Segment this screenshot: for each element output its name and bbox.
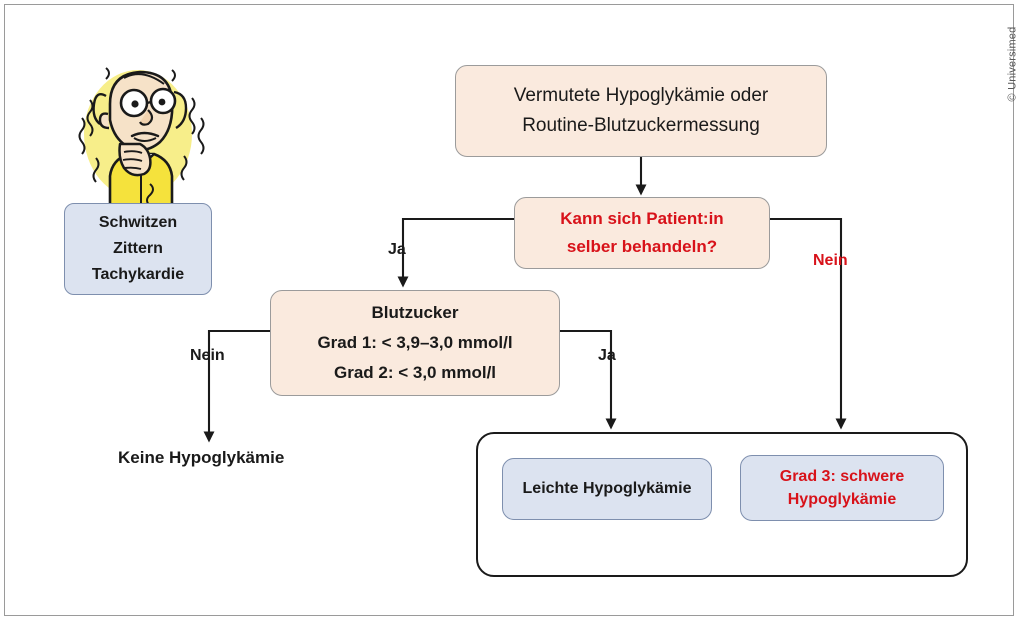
symptom-line-3: Tachykardie xyxy=(92,262,184,288)
node-decision-line-2: selber behandeln? xyxy=(567,233,717,261)
node-severe-hypoglycemia: Grad 3: schwere Hypoglykämie xyxy=(740,455,944,521)
node-glucose-title: Blutzucker xyxy=(372,298,459,328)
node-decision-line-1: Kann sich Patient:in xyxy=(560,205,723,233)
node-mild-hypoglycemia: Leichte Hypoglykämie xyxy=(502,458,712,520)
node-decision: Kann sich Patient:in selber behandeln? xyxy=(514,197,770,269)
node-glucose-grade-1: Grad 1: < 3,9–3,0 mmol/l xyxy=(317,328,512,358)
copyright-notice: © Universimed xyxy=(1007,27,1019,102)
hypoglycemia-patient-cartoon xyxy=(62,48,212,216)
node-blood-glucose: Blutzucker Grad 1: < 3,9–3,0 mmol/l Grad… xyxy=(270,290,560,396)
node-no-hypoglycemia: Keine Hypoglykämie xyxy=(118,448,284,468)
symptom-line-2: Zittern xyxy=(113,236,163,262)
node-severe-line-2: Hypoglykämie xyxy=(788,488,896,511)
node-severe-line-1: Grad 3: schwere xyxy=(780,465,905,488)
symptoms-box: Schwitzen Zittern Tachykardie xyxy=(64,203,212,295)
node-start: Vermutete Hypoglykämie oder Routine-Blut… xyxy=(455,65,827,157)
node-mild-label: Leichte Hypoglykämie xyxy=(523,480,692,498)
edge-label-glucose-no: Nein xyxy=(190,347,225,365)
edge-label-glucose-yes: Ja xyxy=(598,347,616,365)
node-start-line-2: Routine-Blutzuckermessung xyxy=(522,111,760,141)
node-start-line-1: Vermutete Hypoglykämie oder xyxy=(514,81,769,111)
node-glucose-grade-2: Grad 2: < 3,0 mmol/l xyxy=(334,358,496,388)
symptom-line-1: Schwitzen xyxy=(99,210,177,236)
edge-label-decision-yes: Ja xyxy=(388,241,406,259)
diagram-canvas: © Universimed xyxy=(0,0,1024,640)
edge-label-decision-no: Nein xyxy=(813,252,848,270)
